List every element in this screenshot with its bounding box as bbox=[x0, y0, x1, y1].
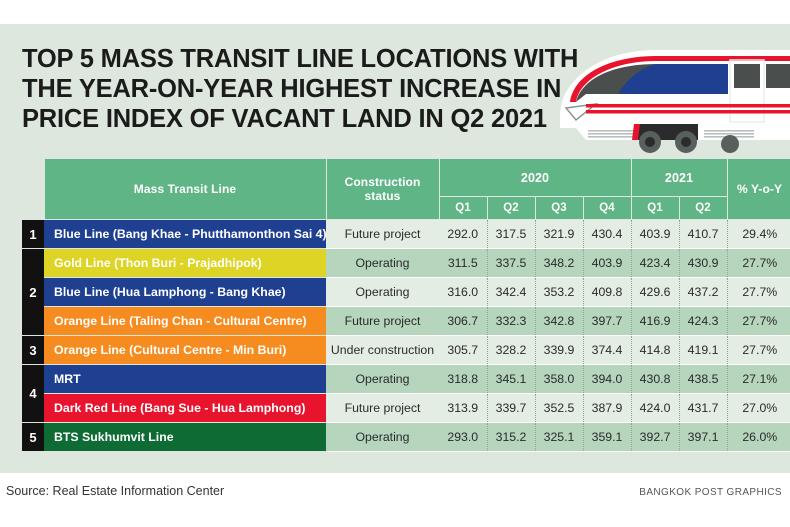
construction-status-cell: Operating bbox=[326, 423, 439, 452]
header-q3-2020: Q3 bbox=[535, 197, 583, 220]
rank-cell: 2 bbox=[22, 249, 44, 336]
header-mass-transit-line: Mass Transit Line bbox=[44, 159, 326, 220]
header-q2-2021: Q2 bbox=[679, 197, 727, 220]
infographic-root: TOP 5 MASS TRANSIT LINE LOCATIONS WITH T… bbox=[0, 0, 790, 527]
header-q1-2020: Q1 bbox=[439, 197, 487, 220]
rank-cell: 5 bbox=[22, 423, 44, 452]
title-line-2: THE YEAR-ON-YEAR HIGHEST INCREASE IN bbox=[22, 74, 562, 104]
value-cell-q2-2020: 337.5 bbox=[487, 249, 535, 278]
value-cell-q3-2020: 348.2 bbox=[535, 249, 583, 278]
construction-status-cell: Future project bbox=[326, 307, 439, 336]
header-pct-yoy: % Y-o-Y bbox=[727, 159, 790, 220]
value-cell-q2-2020: 339.7 bbox=[487, 394, 535, 423]
construction-status-cell: Under construction bbox=[326, 336, 439, 365]
value-cell-q1-2021: 423.4 bbox=[631, 249, 679, 278]
pct-yoy-cell: 27.0% bbox=[727, 394, 790, 423]
page-title: TOP 5 MASS TRANSIT LINE LOCATIONS WITH T… bbox=[22, 44, 562, 134]
value-cell-q1-2021: 403.9 bbox=[631, 220, 679, 249]
source-label: Source: Real Estate Information Center bbox=[6, 484, 224, 498]
header-year-2021: 2021 bbox=[631, 159, 727, 197]
value-cell-q1-2021: 429.6 bbox=[631, 278, 679, 307]
construction-status-cell: Operating bbox=[326, 278, 439, 307]
value-cell-q4-2020: 409.8 bbox=[583, 278, 631, 307]
value-cell-q4-2020: 430.4 bbox=[583, 220, 631, 249]
header-q4-2020: Q4 bbox=[583, 197, 631, 220]
value-cell-q2-2021: 431.7 bbox=[679, 394, 727, 423]
table-row: 3Orange Line (Cultural Centre - Min Buri… bbox=[22, 336, 790, 365]
table-row: 4MRTOperating318.8345.1358.0394.0430.843… bbox=[22, 365, 790, 394]
header-rank-spacer bbox=[22, 159, 44, 220]
value-cell-q1-2020: 311.5 bbox=[439, 249, 487, 278]
value-cell-q1-2020: 318.8 bbox=[439, 365, 487, 394]
value-cell-q2-2021: 419.1 bbox=[679, 336, 727, 365]
value-cell-q1-2020: 306.7 bbox=[439, 307, 487, 336]
value-cell-q1-2020: 305.7 bbox=[439, 336, 487, 365]
value-cell-q1-2021: 424.0 bbox=[631, 394, 679, 423]
pct-yoy-cell: 27.7% bbox=[727, 307, 790, 336]
transit-line-label: Blue Line (Hua Lamphong - Bang Khae) bbox=[44, 278, 326, 307]
value-cell-q2-2021: 410.7 bbox=[679, 220, 727, 249]
table-header: Mass Transit Line Construction status 20… bbox=[22, 159, 790, 220]
value-cell-q1-2020: 292.0 bbox=[439, 220, 487, 249]
value-cell-q2-2020: 328.2 bbox=[487, 336, 535, 365]
value-cell-q4-2020: 403.9 bbox=[583, 249, 631, 278]
table-row: 2Gold Line (Thon Buri - Prajadhipok)Oper… bbox=[22, 249, 790, 278]
pct-yoy-cell: 26.0% bbox=[727, 423, 790, 452]
pct-yoy-cell: 27.1% bbox=[727, 365, 790, 394]
construction-status-cell: Operating bbox=[326, 249, 439, 278]
pct-yoy-cell: 27.7% bbox=[727, 278, 790, 307]
transit-line-label: Orange Line (Taling Chan - Cultural Cent… bbox=[44, 307, 326, 336]
graphics-credit: BANGKOK POST GRAPHICS bbox=[639, 487, 782, 498]
value-cell-q2-2020: 315.2 bbox=[487, 423, 535, 452]
transit-line-label: Blue Line (Bang Khae - Phutthamonthon Sa… bbox=[44, 220, 326, 249]
value-cell-q2-2021: 397.1 bbox=[679, 423, 727, 452]
header-construction-status: Construction status bbox=[326, 159, 439, 220]
rank-cell: 3 bbox=[22, 336, 44, 365]
value-cell-q2-2020: 342.4 bbox=[487, 278, 535, 307]
pct-yoy-cell: 27.7% bbox=[727, 249, 790, 278]
header-q2-2020: Q2 bbox=[487, 197, 535, 220]
rank-cell: 1 bbox=[22, 220, 44, 249]
value-cell-q3-2020: 342.8 bbox=[535, 307, 583, 336]
rank-cell: 4 bbox=[22, 365, 44, 423]
title-line-1: TOP 5 MASS TRANSIT LINE LOCATIONS WITH bbox=[22, 44, 562, 74]
transit-line-label: BTS Sukhumvit Line bbox=[44, 423, 326, 452]
value-cell-q2-2020: 317.5 bbox=[487, 220, 535, 249]
pct-yoy-cell: 29.4% bbox=[727, 220, 790, 249]
table-row: 5BTS Sukhumvit LineOperating293.0315.232… bbox=[22, 423, 790, 452]
transit-line-label: Dark Red Line (Bang Sue - Hua Lamphong) bbox=[44, 394, 326, 423]
transit-data-table: Mass Transit Line Construction status 20… bbox=[22, 158, 790, 452]
value-cell-q4-2020: 394.0 bbox=[583, 365, 631, 394]
value-cell-q3-2020: 352.5 bbox=[535, 394, 583, 423]
header-year-2020: 2020 bbox=[439, 159, 631, 197]
value-cell-q1-2021: 414.8 bbox=[631, 336, 679, 365]
value-cell-q3-2020: 353.2 bbox=[535, 278, 583, 307]
value-cell-q1-2021: 430.8 bbox=[631, 365, 679, 394]
value-cell-q3-2020: 358.0 bbox=[535, 365, 583, 394]
value-cell-q3-2020: 321.9 bbox=[535, 220, 583, 249]
value-cell-q2-2021: 438.5 bbox=[679, 365, 727, 394]
construction-status-cell: Future project bbox=[326, 220, 439, 249]
construction-status-cell: Future project bbox=[326, 394, 439, 423]
header-construction-status-line2: status bbox=[327, 189, 439, 203]
transit-line-label: Orange Line (Cultural Centre - Min Buri) bbox=[44, 336, 326, 365]
pct-yoy-cell: 27.7% bbox=[727, 336, 790, 365]
value-cell-q2-2020: 345.1 bbox=[487, 365, 535, 394]
value-cell-q2-2021: 424.3 bbox=[679, 307, 727, 336]
value-cell-q2-2021: 430.9 bbox=[679, 249, 727, 278]
header-q1-2021: Q1 bbox=[631, 197, 679, 220]
value-cell-q1-2020: 316.0 bbox=[439, 278, 487, 307]
table-body: 1Blue Line (Bang Khae - Phutthamonthon S… bbox=[22, 220, 790, 452]
value-cell-q1-2020: 313.9 bbox=[439, 394, 487, 423]
value-cell-q4-2020: 359.1 bbox=[583, 423, 631, 452]
value-cell-q4-2020: 374.4 bbox=[583, 336, 631, 365]
table-row: 1Blue Line (Bang Khae - Phutthamonthon S… bbox=[22, 220, 790, 249]
title-line-3: PRICE INDEX OF VACANT LAND IN Q2 2021 bbox=[22, 104, 562, 134]
value-cell-q1-2020: 293.0 bbox=[439, 423, 487, 452]
value-cell-q1-2021: 392.7 bbox=[631, 423, 679, 452]
transit-line-label: Gold Line (Thon Buri - Prajadhipok) bbox=[44, 249, 326, 278]
table-row: Blue Line (Hua Lamphong - Bang Khae)Oper… bbox=[22, 278, 790, 307]
value-cell-q2-2020: 332.3 bbox=[487, 307, 535, 336]
value-cell-q3-2020: 339.9 bbox=[535, 336, 583, 365]
transit-line-label: MRT bbox=[44, 365, 326, 394]
value-cell-q1-2021: 416.9 bbox=[631, 307, 679, 336]
value-cell-q3-2020: 325.1 bbox=[535, 423, 583, 452]
value-cell-q4-2020: 397.7 bbox=[583, 307, 631, 336]
value-cell-q4-2020: 387.9 bbox=[583, 394, 631, 423]
construction-status-cell: Operating bbox=[326, 365, 439, 394]
table-row: Dark Red Line (Bang Sue - Hua Lamphong)F… bbox=[22, 394, 790, 423]
table-row: Orange Line (Taling Chan - Cultural Cent… bbox=[22, 307, 790, 336]
header-construction-status-line1: Construction bbox=[327, 175, 439, 189]
value-cell-q2-2021: 437.2 bbox=[679, 278, 727, 307]
